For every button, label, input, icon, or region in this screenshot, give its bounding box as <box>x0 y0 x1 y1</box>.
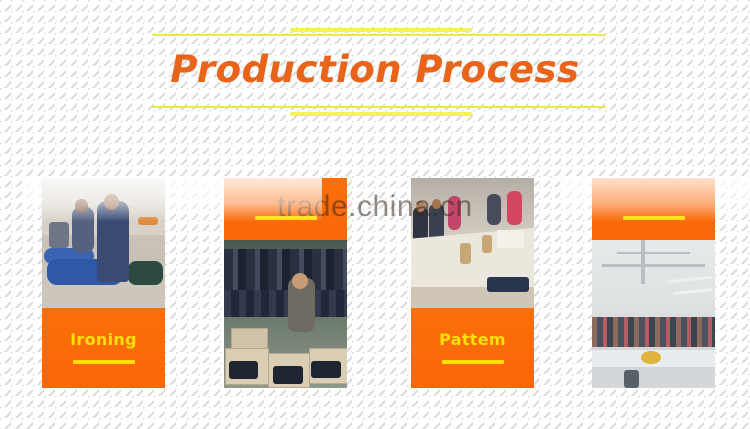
card-label-panel <box>592 178 715 240</box>
header-rule-top-short <box>290 28 472 32</box>
card-label-panel: Ironing <box>42 308 165 388</box>
card-label-underline <box>73 360 135 364</box>
page-title: Production Process <box>0 48 750 91</box>
header-rule-bottom-long <box>152 106 606 108</box>
card-label-text: Pattem <box>411 330 534 349</box>
header-rule-bottom-short <box>290 112 472 116</box>
card-label-text: Ironing <box>42 330 165 349</box>
card-label-underline <box>442 360 504 364</box>
process-card[interactable] <box>592 178 715 388</box>
process-card-list: Ironing <box>0 178 750 390</box>
card-label-panel: Pattem <box>411 308 534 388</box>
process-card[interactable]: Pattem <box>411 178 534 388</box>
process-card[interactable]: Ironing <box>42 178 165 388</box>
card-photo <box>411 178 534 308</box>
process-card[interactable] <box>224 178 347 388</box>
page-background: Production Process <box>0 0 750 429</box>
card-photo <box>592 240 715 388</box>
card-label-underline <box>623 216 685 220</box>
page-header: Production Process <box>0 22 750 132</box>
card-photo <box>42 178 165 308</box>
card-label-underline <box>255 216 317 220</box>
card-photo <box>224 240 347 388</box>
card-label-panel <box>224 178 347 240</box>
header-rule-top-long <box>152 34 606 36</box>
